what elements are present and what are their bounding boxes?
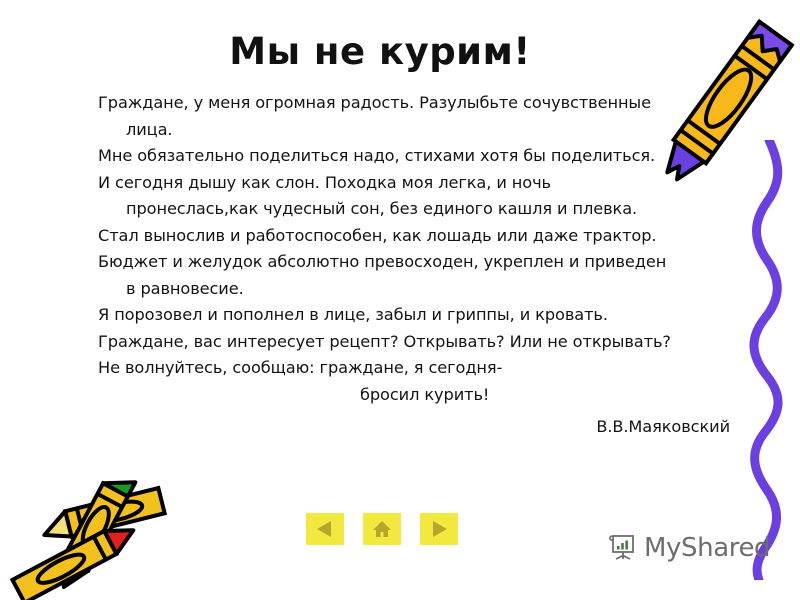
poem-line: Я порозовел и пополнел в лице, забыл и г… xyxy=(98,302,748,329)
previous-slide-button[interactable] xyxy=(306,513,344,545)
poem-line: в равновесие. xyxy=(98,276,748,303)
myshared-watermark[interactable]: MyShared xyxy=(606,530,770,566)
poem-line: Бюджет и желудок абсолютно превосходен, … xyxy=(98,249,748,276)
triangle-left-icon xyxy=(314,518,336,540)
crayon-cluster xyxy=(8,462,168,600)
next-slide-button[interactable] xyxy=(420,513,458,545)
triangle-right-icon xyxy=(428,518,450,540)
home-icon xyxy=(371,518,393,540)
poem-line: бросил курить! xyxy=(98,382,748,409)
page-title: Мы не курим! xyxy=(0,30,760,73)
poem-author: В.В.Маяковский xyxy=(98,408,748,441)
poem-line: Не волнуйтесь, сообщаю: граждане, я сего… xyxy=(98,355,748,382)
presentation-chart-icon xyxy=(606,530,638,566)
slide-navigation-bar xyxy=(306,513,458,545)
myshared-label: MyShared xyxy=(644,533,770,563)
yellow-crayon xyxy=(648,0,800,204)
slide-canvas: Мы не курим! Граждане, у меня огромная р… xyxy=(0,0,800,600)
poem-line: Граждане, вас интересует рецепт? Открыва… xyxy=(98,329,748,356)
poem-line: Стал вынослив и работоспособен, как лоша… xyxy=(98,223,748,250)
home-slide-button[interactable] xyxy=(363,513,401,545)
